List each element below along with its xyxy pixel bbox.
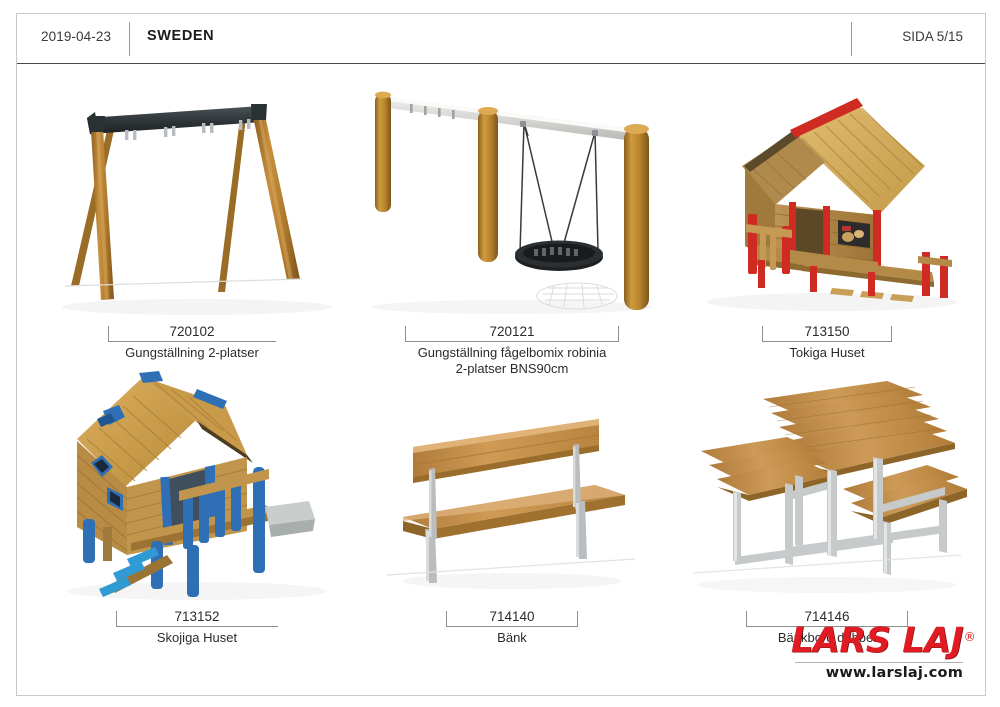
caption-rule: 720102 <box>108 326 276 342</box>
caption-rule: 713152 <box>116 611 278 627</box>
logo-text: LARS LAJ <box>791 621 963 661</box>
registered-trademark-icon: ® <box>964 619 976 655</box>
logo-divider <box>795 662 963 663</box>
caption-rule: 713150 <box>762 326 892 342</box>
playhouse-blue-icon <box>47 359 347 609</box>
product-code: 714140 <box>446 609 578 624</box>
swing-frame-2-seat-icon <box>47 74 337 324</box>
brand-logo: LARS LAJ ® www.larslaj.com <box>791 623 963 681</box>
caption-hline <box>446 626 578 627</box>
product-caption: 713150 Tokiga Huset <box>682 326 972 361</box>
page-header: 2019-04-23 SWEDEN SIDA 5/15 <box>17 14 985 64</box>
product-name: Bänk <box>367 630 657 646</box>
caption-hline <box>108 341 276 342</box>
product-cell[interactable]: 713152 Skojiga Huset <box>47 359 347 649</box>
product-cell[interactable]: 714146 Bänkbord dubbel <box>677 359 977 649</box>
header-divider-right <box>851 22 852 56</box>
product-code: 713152 <box>116 609 278 624</box>
product-cell[interactable]: 720121 Gungställning fågelbomix robinia … <box>362 74 662 374</box>
caption-hline <box>405 341 619 342</box>
product-cell[interactable]: 714140 Bänk <box>367 359 657 649</box>
product-caption: 714140 Bänk <box>367 611 657 646</box>
caption-hline <box>762 341 892 342</box>
playhouse-red-icon <box>682 74 972 324</box>
nest-swing-robinia-icon <box>362 74 662 324</box>
bench-icon <box>367 359 657 609</box>
product-caption: 720102 Gungställning 2-platser <box>47 326 337 361</box>
caption-hline <box>116 626 278 627</box>
product-cell[interactable]: 720102 Gungställning 2-platser <box>47 74 337 364</box>
product-cell[interactable]: 713150 Tokiga Huset <box>682 74 972 364</box>
logo-wordmark: LARS LAJ ® <box>791 623 963 659</box>
header-page-number: SIDA 5/15 <box>902 29 963 44</box>
product-grid: 720102 Gungställning 2-platser <box>17 64 985 644</box>
website-url[interactable]: www.larslaj.com <box>791 665 963 681</box>
picnic-table-double-icon <box>677 359 977 609</box>
product-code: 713150 <box>762 324 892 339</box>
header-divider-left <box>129 22 130 56</box>
product-name: Skojiga Huset <box>47 630 347 646</box>
product-caption: 713152 Skojiga Huset <box>47 611 347 646</box>
caption-rule: 720121 <box>405 326 619 342</box>
catalog-page: 2019-04-23 SWEDEN SIDA 5/15 <box>16 13 986 696</box>
header-date: 2019-04-23 <box>41 29 111 44</box>
product-code: 720121 <box>405 324 619 339</box>
caption-rule: 714140 <box>446 611 578 627</box>
header-country-title: SWEDEN <box>147 28 214 44</box>
product-code: 720102 <box>108 324 276 339</box>
